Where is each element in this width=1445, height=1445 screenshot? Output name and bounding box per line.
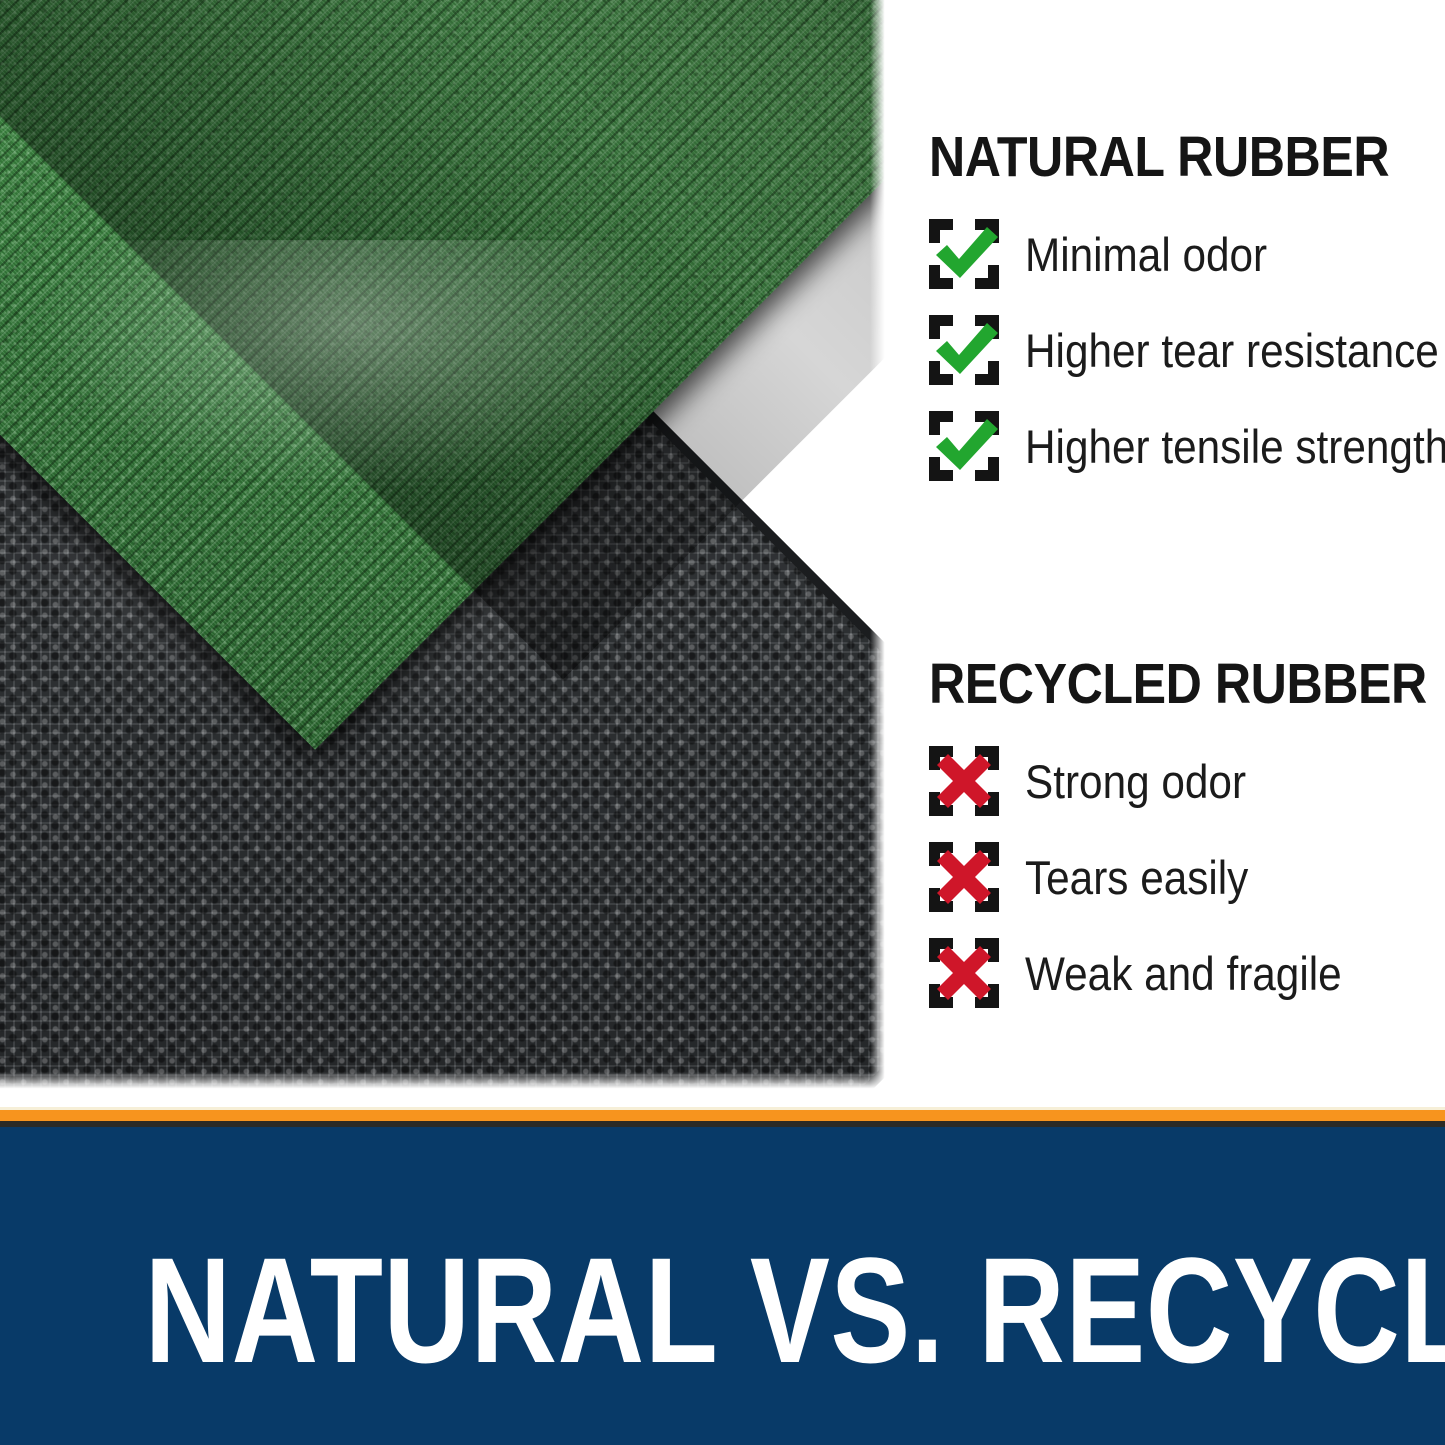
banner-title: NATURAL VS. RECYCLED [145, 1235, 1301, 1385]
infographic-page: NATURAL RUBBER [0, 0, 1445, 1445]
photo-bottom-fade [0, 1072, 886, 1090]
list-item: Strong odor [927, 733, 1445, 829]
natural-rubber-list: Minimal odor [905, 206, 1445, 494]
cross-icon [927, 744, 1001, 818]
check-icon [927, 313, 1001, 387]
feature-group-natural-rubber: NATURAL RUBBER [905, 128, 1445, 494]
list-item: Tears easily [927, 829, 1445, 925]
cross-icon [927, 936, 1001, 1010]
list-item: Higher tensile strength [927, 398, 1445, 494]
banner-dark-stripe [0, 1121, 1445, 1127]
check-icon [927, 409, 1001, 483]
feature-group-recycled-rubber: RECYCLED RUBBER [905, 655, 1445, 1021]
feature-label: Weak and fragile [1025, 950, 1342, 997]
banner-orange-stripe [0, 1110, 1445, 1121]
recycled-rubber-heading: RECYCLED RUBBER [929, 655, 1383, 713]
product-photo [0, 0, 886, 1090]
feature-label: Minimal odor [1025, 231, 1267, 278]
feature-panel: NATURAL RUBBER [905, 0, 1445, 1090]
recycled-rubber-list: Strong odor [905, 733, 1445, 1021]
photo-right-fade [870, 0, 886, 1090]
bottom-banner: NATURAL VS. RECYCLED [0, 1107, 1445, 1445]
list-item: Minimal odor [927, 206, 1445, 302]
feature-label: Tears easily [1025, 854, 1248, 901]
top-content-area: NATURAL RUBBER [0, 0, 1445, 1107]
list-item: Higher tear resistance [927, 302, 1445, 398]
feature-label: Higher tear resistance [1025, 327, 1439, 374]
cross-icon [927, 840, 1001, 914]
list-item: Weak and fragile [927, 925, 1445, 1021]
feature-label: Higher tensile strength [1025, 423, 1445, 470]
natural-rubber-heading: NATURAL RUBBER [929, 128, 1383, 186]
feature-label: Strong odor [1025, 758, 1246, 805]
check-icon [927, 217, 1001, 291]
